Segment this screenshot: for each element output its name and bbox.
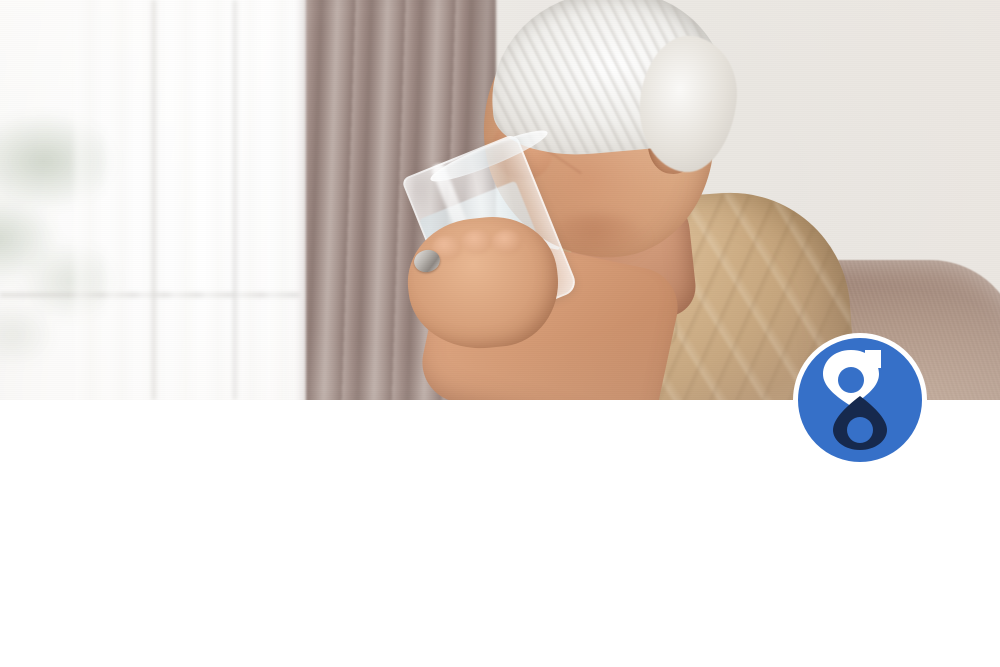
knuckle	[462, 230, 492, 254]
article-hero-card: The Role of Hydration in Preventing and …	[0, 0, 1000, 667]
white-drop-tail	[865, 350, 881, 368]
navy-drop-hole	[847, 417, 873, 443]
knuckle	[492, 230, 522, 254]
water-drop-logo[interactable]	[793, 333, 927, 467]
white-drop-hole	[838, 367, 864, 393]
